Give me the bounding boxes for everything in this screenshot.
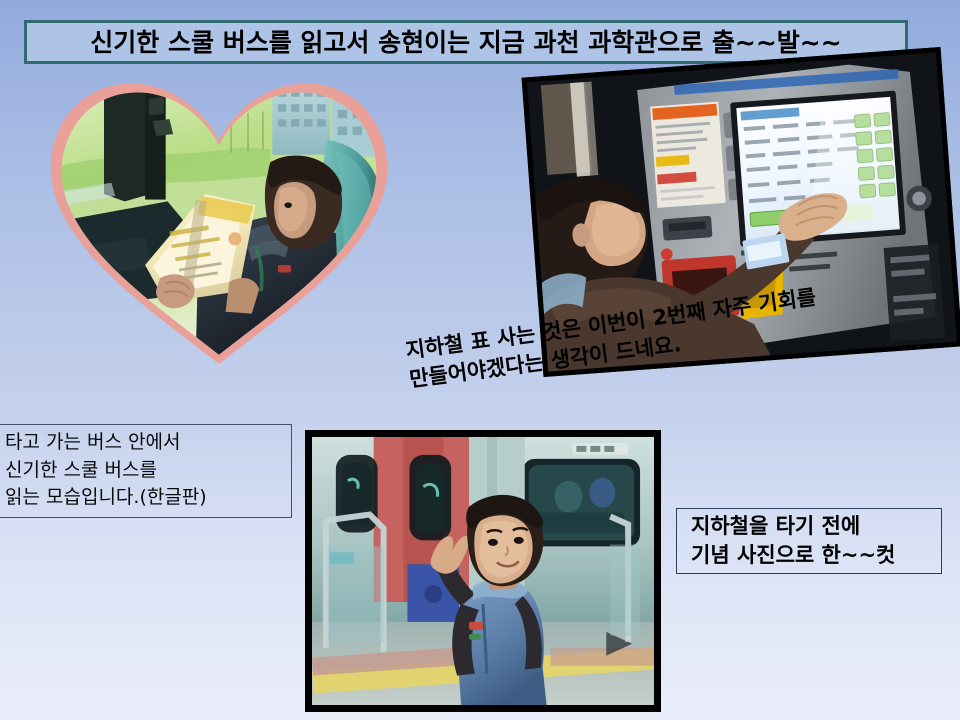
platform-photo-caption-text: 지하철을 타기 전에 기념 사진으로 한~~컷	[691, 512, 895, 570]
page-title: 신기한 스쿨 버스를 읽고서 송현이는 지금 과천 과학관으로 출~~발~~	[90, 30, 841, 55]
heart-photo-frame	[44, 72, 394, 370]
heart-photo-svg	[44, 72, 394, 370]
platform-photo-image	[312, 437, 654, 705]
bus-photo-caption-text: 타고 가는 버스 안에서 신기한 스쿨 버스를 읽는 모습입니다.(한글판)	[5, 429, 291, 512]
slide-canvas: 신기한 스쿨 버스를 읽고서 송현이는 지금 과천 과학관으로 출~~발~~	[0, 0, 960, 720]
platform-photo-caption-box: 지하철을 타기 전에 기념 사진으로 한~~컷	[676, 508, 942, 574]
platform-photo	[305, 430, 661, 712]
bus-photo-caption-box: 타고 가는 버스 안에서 신기한 스쿨 버스를 읽는 모습입니다.(한글판)	[0, 424, 292, 518]
slide-title-box: 신기한 스쿨 버스를 읽고서 송현이는 지금 과천 과학관으로 출~~발~~	[24, 20, 908, 64]
heart-photo-image	[55, 82, 382, 361]
